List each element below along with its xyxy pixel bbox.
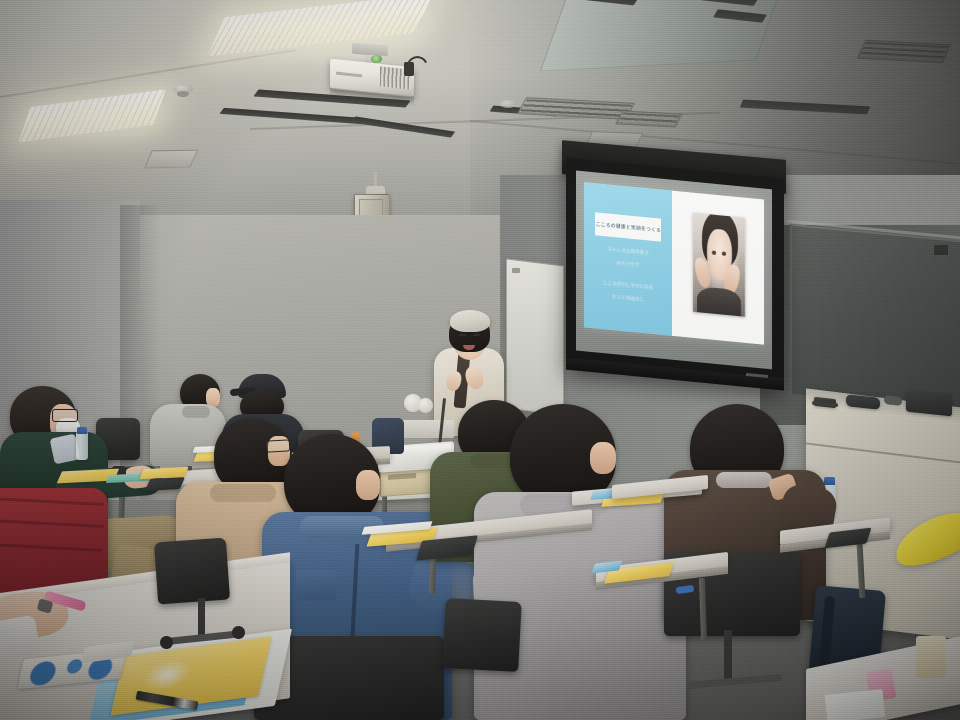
presenter-hat: [450, 310, 490, 332]
shirt-collar: [716, 472, 772, 488]
eyeglasses-icon: [266, 439, 291, 452]
chair-post: [724, 630, 732, 682]
decor-ball-2: [418, 398, 433, 413]
ceiling-access-panel: [144, 150, 198, 169]
presenter-eye-left: [459, 334, 466, 336]
whiteboard-magnet: [512, 268, 520, 273]
slide-line-3: こころが少しラクになる: [584, 278, 672, 292]
chair-back[interactable]: [154, 538, 230, 605]
sweater-collar: [210, 484, 276, 502]
back-counter: [398, 420, 454, 438]
handout-white[interactable]: [825, 689, 886, 720]
bottle-cap: [824, 477, 835, 485]
smartphone[interactable]: [145, 477, 185, 491]
hoodie-hood: [182, 406, 210, 418]
light-glow-left: [10, 88, 180, 148]
presenter-eye-right: [473, 334, 480, 336]
slide-line-1: ストレスと向きあう: [584, 245, 672, 259]
cabinet-item-case[interactable]: [906, 390, 952, 417]
projection-screen-surface: こころの健康と笑顔をつくる ストレスと向きあう セルフケア こころが少しラクにな…: [576, 170, 772, 369]
denim-pocket: [296, 570, 336, 600]
projected-slide: こころの健康と笑顔をつくる ストレスと向きあう セルフケア こころが少しラクにな…: [584, 182, 764, 344]
slide-title: こころの健康と笑顔をつくる: [595, 221, 660, 234]
water-bottle[interactable]: [76, 432, 88, 460]
whiteboard: [506, 258, 564, 415]
slide-photo-panel: [672, 191, 764, 345]
smoke-detector-base: [177, 91, 189, 97]
slide-photo: [693, 213, 744, 317]
slide-title-box: こころの健康と笑顔をつくる: [595, 212, 660, 241]
chair-back[interactable]: [442, 598, 522, 672]
eyeglasses-icon: [52, 409, 78, 422]
bottle-cap: [77, 427, 87, 434]
chair-post: [198, 598, 205, 638]
desk-item-carton[interactable]: [916, 636, 946, 678]
student-gray-ear: [590, 442, 616, 474]
slide-line-2: セルフケア: [584, 258, 672, 272]
slide-accent-panel: こころの健康と笑顔をつくる ストレスと向きあう セルフケア こころが少しラクにな…: [584, 182, 672, 335]
projection-screen-frame: こころの健康と笑顔をつくる ストレスと向きあう セルフケア こころが少しラクにな…: [566, 158, 784, 391]
chair-caster: [160, 636, 173, 649]
board-corner-bracket: [934, 245, 948, 255]
classroom-photo: こころの健康と笑顔をつくる ストレスと向きあう セルフケア こころが少しラクにな…: [0, 0, 960, 720]
chair-caster: [232, 626, 245, 639]
projector-connector: [404, 62, 414, 76]
cabinet-item-marker[interactable]: [884, 395, 902, 406]
projector-lens-icon: [371, 55, 382, 63]
slide-line-4: ヒントのはなし: [584, 291, 672, 305]
student-denim-ear: [356, 470, 380, 500]
